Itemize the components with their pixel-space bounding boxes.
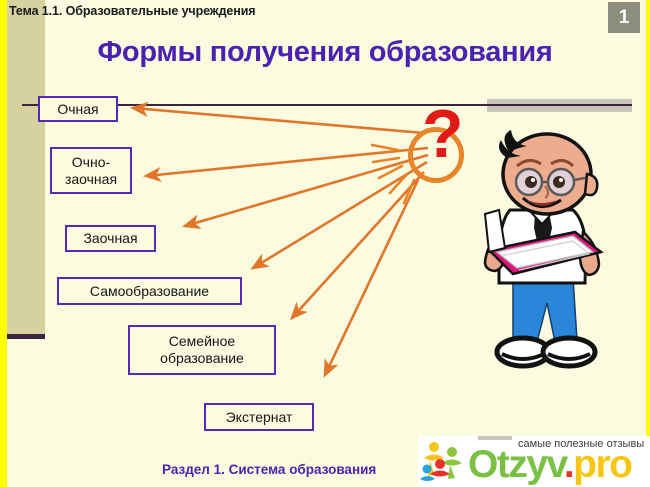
page-title: Формы получения образования: [0, 36, 650, 69]
label-text-zaochnaya: Заочная: [83, 230, 137, 247]
arrow-to-ochnaya: [133, 108, 424, 133]
watermark-wordmark: Otzyv.pro: [468, 444, 631, 486]
watermark-logo: самые полезные отзывы Otzyv.pro: [418, 436, 650, 487]
label-text-ochno-zaochnaya-line2: заочная: [65, 171, 117, 188]
label-text-semeynoe-line2: образование: [160, 350, 244, 367]
label-box-semeynoe-obrazovanie[interactable]: Семейное образование: [128, 325, 276, 375]
label-box-samoobrazovanie[interactable]: Самообразование: [57, 277, 242, 305]
watermark-name-a: Otzyv: [468, 443, 564, 486]
label-box-eksternat[interactable]: Экстернат: [204, 403, 314, 431]
watermark-dot: .: [564, 443, 573, 486]
label-box-ochno-zaochnaya[interactable]: Очно- заочная: [50, 147, 132, 194]
label-text-eksternat: Экстернат: [226, 409, 293, 426]
label-text-samoobrazovanie: Самообразование: [90, 283, 209, 300]
question-mark-emblem: ?: [395, 98, 495, 198]
people-icon: [420, 440, 468, 484]
arrow-to-zaochnaya: [185, 155, 428, 226]
slide-canvas: Тема 1.1. Образовательные учреждения 1 Ф…: [0, 0, 650, 487]
label-box-zaochnaya[interactable]: Заочная: [65, 225, 156, 252]
label-text-ochnaya: Очная: [57, 101, 98, 118]
watermark-stub: [478, 436, 512, 440]
topic-heading: Тема 1.1. Образовательные учреждения: [9, 4, 255, 18]
sidebar-band-underline: [7, 334, 45, 339]
frame-stripe-right: [646, 0, 650, 487]
arrow-to-ochno-zaochnaya: [146, 148, 428, 176]
label-box-ochnaya[interactable]: Очная: [38, 96, 118, 122]
label-text-ochno-zaochnaya-line1: Очно-: [65, 154, 117, 171]
watermark-name-b: pro: [573, 443, 631, 486]
arrow-to-eksternat: [325, 180, 418, 375]
question-mark-icon: ?: [422, 100, 464, 168]
label-text-semeynoe-line1: Семейное: [160, 333, 244, 350]
slide-number-badge: 1: [608, 2, 640, 33]
footer-section-label: Раздел 1. Система образования: [162, 462, 376, 477]
frame-stripe-left: [0, 0, 7, 487]
